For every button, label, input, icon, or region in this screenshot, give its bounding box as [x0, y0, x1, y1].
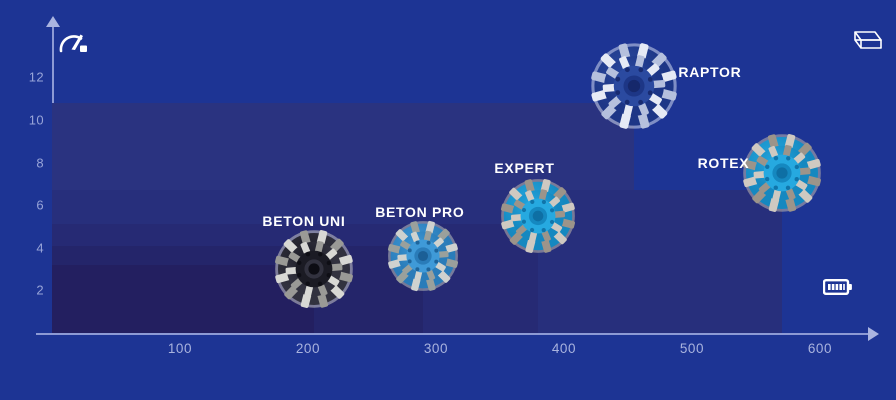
product-label: RAPTOR — [678, 64, 741, 80]
battery-icon — [823, 278, 853, 301]
product-label: BETON PRO — [375, 204, 464, 220]
grinding-disc-icon — [500, 178, 576, 254]
product-marker[interactable]: BETON UNI — [274, 229, 354, 309]
x-axis-line — [36, 333, 876, 335]
cube-icon — [845, 28, 883, 63]
grinding-disc-icon — [387, 220, 459, 292]
y-axis-tick-label: 12 — [10, 70, 44, 85]
product-label: BETON UNI — [262, 213, 345, 229]
grinding-disc-icon — [274, 229, 354, 309]
x-axis-tick-label: 600 — [790, 341, 850, 356]
y-axis-tick-label: 10 — [10, 113, 44, 128]
x-axis-tick-label: 400 — [534, 341, 594, 356]
product-marker[interactable]: ROTEX — [742, 133, 822, 213]
product-label: ROTEX — [698, 155, 750, 171]
y-axis-tick-label: 8 — [10, 155, 44, 170]
y-axis-tick-label: 4 — [10, 240, 44, 255]
y-axis-tick-label: 6 — [10, 198, 44, 213]
product-marker[interactable]: BETON PRO — [387, 220, 459, 292]
product-marker[interactable]: RAPTOR — [590, 42, 678, 130]
x-axis-tick-label: 100 — [150, 341, 210, 356]
x-axis-tick-label: 500 — [662, 341, 722, 356]
x-axis-arrow-icon — [868, 327, 879, 341]
y-axis-tick-labels: 24681012 — [0, 0, 44, 400]
gauge-icon — [58, 30, 90, 61]
grinding-disc-icon — [742, 133, 822, 213]
grinding-disc-icon — [590, 42, 678, 130]
product-marker[interactable]: EXPERT — [500, 178, 576, 254]
y-axis-tick-label: 2 — [10, 283, 44, 298]
product-label: EXPERT — [494, 160, 554, 176]
x-axis-tick-label: 200 — [278, 341, 338, 356]
chart-canvas: 24681012 100200300400500600800 — [0, 0, 896, 400]
x-axis-tick-label: 300 — [406, 341, 466, 356]
y-axis-arrow-icon — [46, 16, 60, 27]
